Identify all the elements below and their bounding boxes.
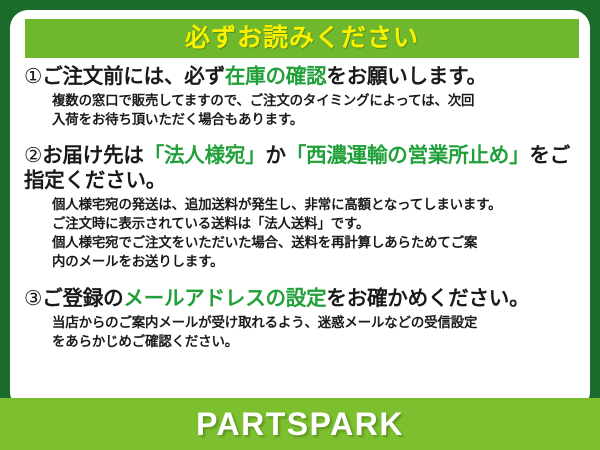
notice-item-3-heading-highlight: メールアドレスの設定 bbox=[123, 287, 326, 310]
notice-item-2-note-line-4: 内のメールをお送りします。 bbox=[52, 252, 582, 271]
footer-bar: PARTSPARK bbox=[0, 398, 600, 450]
notice-item-2-note-line-1: 個人様宅宛の発送は、追加送料が発生し、非常に高額となってしまいます。 bbox=[52, 195, 582, 214]
header-title: 必ずお読みください bbox=[185, 26, 419, 51]
notice-item-3: ③ご登録のメールアドレスの設定をお確かめください。 当店からのご案内メールが受け… bbox=[18, 286, 582, 351]
notice-item-1-marker: ① bbox=[24, 65, 42, 88]
notice-item-2-heading-highlight-1: 「法人様宛」 bbox=[144, 144, 266, 167]
notice-item-3-heading: ③ご登録のメールアドレスの設定をお確かめください。 bbox=[18, 286, 582, 311]
brand-logo: PARTSPARK bbox=[196, 408, 404, 440]
notice-banner: 必ずお読みください ①ご注文前には、必ず在庫の確認をお願いします。 複数の窓口で… bbox=[0, 0, 600, 450]
notice-item-2-note-line-2: ご注文時に表示されている送料は「法人送料」です。 bbox=[52, 214, 582, 233]
notice-item-2-note-line-3: 個人様宅宛でご注文をいただいた場合、送料を再計算しあらためてご案 bbox=[52, 233, 582, 252]
notice-item-3-heading-part-1: ご登録の bbox=[42, 287, 123, 310]
notice-item-1-note: 複数の窓口で販売してますので、ご注文のタイミングによっては、次回 入荷をお待ち頂… bbox=[18, 91, 582, 129]
notice-item-1: ①ご注文前には、必ず在庫の確認をお願いします。 複数の窓口で販売してますので、ご… bbox=[18, 64, 582, 129]
notice-item-3-heading-part-3: をお確かめください。 bbox=[326, 287, 529, 310]
notice-item-2-note: 個人様宅宛の発送は、追加送料が発生し、非常に高額となってしまいます。 ご注文時に… bbox=[18, 195, 582, 271]
notice-item-1-heading-part-1: ご注文前には、必ず bbox=[42, 65, 225, 88]
notice-item-1-heading-highlight: 在庫の確認 bbox=[225, 65, 327, 88]
notice-item-3-marker: ③ bbox=[24, 287, 42, 310]
notice-item-2-marker: ② bbox=[24, 144, 42, 167]
spacer-1 bbox=[18, 131, 582, 143]
notice-body: ①ご注文前には、必ず在庫の確認をお願いします。 複数の窓口で販売してますので、ご… bbox=[10, 64, 590, 398]
notice-item-2-heading-highlight-2: 「西濃運輸の営業所止め」 bbox=[286, 144, 530, 167]
notice-item-3-note: 当店からのご案内メールが受け取れるよう、迷惑メールなどの受信設定 をあらかじめご… bbox=[18, 313, 582, 351]
notice-item-2: ②お届け先は「法人様宛」か「西濃運輸の営業所止め」をご指定ください。 個人様宅宛… bbox=[18, 143, 582, 271]
notice-item-2-heading: ②お届け先は「法人様宛」か「西濃運輸の営業所止め」をご指定ください。 bbox=[18, 143, 582, 193]
notice-item-2-heading-part-3: か bbox=[266, 144, 286, 167]
notice-item-3-note-line-2: をあらかじめご確認ください。 bbox=[52, 332, 582, 351]
notice-item-1-note-line-2: 入荷をお待ち頂いただく場合もあります。 bbox=[52, 110, 582, 129]
notice-item-1-note-line-1: 複数の窓口で販売してますので、ご注文のタイミングによっては、次回 bbox=[52, 91, 582, 110]
notice-item-1-heading: ①ご注文前には、必ず在庫の確認をお願いします。 bbox=[18, 64, 582, 89]
notice-item-3-note-line-1: 当店からのご案内メールが受け取れるよう、迷惑メールなどの受信設定 bbox=[52, 313, 582, 332]
header-bar: 必ずお読みください bbox=[25, 19, 579, 58]
notice-item-2-heading-part-1: お届け先は bbox=[42, 144, 144, 167]
notice-item-1-heading-part-3: をお願いします。 bbox=[326, 65, 486, 88]
spacer-2 bbox=[18, 273, 582, 286]
